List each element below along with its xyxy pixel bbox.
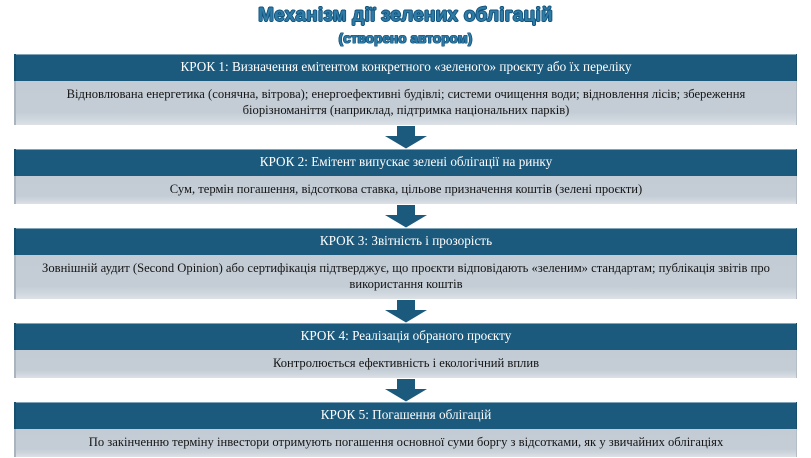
down-arrow-icon (384, 300, 428, 323)
page-subtitle: (створено автором) (0, 30, 811, 47)
flowchart-page: Механізм дії зелених облігацій (створено… (0, 0, 811, 458)
step-3-body: Зовнішній аудит (Second Opinion) або сер… (14, 255, 797, 299)
step-group-4: КРОК 4: Реалізація обраного проєкту Конт… (14, 323, 797, 378)
step-1-body: Відновлювана енергетика (сонячна, вітров… (14, 81, 797, 125)
connector-3-to-4 (14, 299, 797, 323)
step-group-1: КРОК 1: Визначення емітентом конкретного… (14, 54, 797, 125)
connector-1-to-2 (14, 125, 797, 149)
step-2-header: КРОК 2: Емітент випускає зелені облігаці… (14, 149, 797, 176)
connector-4-to-5 (14, 378, 797, 402)
down-arrow-icon (384, 205, 428, 228)
page-title: Механізм дії зелених облігацій (0, 5, 811, 27)
down-arrow-icon (384, 126, 428, 149)
step-3-header: КРОК 3: Звітність і прозорість (14, 228, 797, 255)
step-group-5: КРОК 5: Погашення облігацій По закінченн… (14, 402, 797, 457)
step-2-body: Сум, термін погашення, відсоткова ставка… (14, 176, 797, 204)
flow-container: КРОК 1: Визначення емітентом конкретного… (14, 54, 797, 457)
step-4-header: КРОК 4: Реалізація обраного проєкту (14, 323, 797, 350)
connector-2-to-3 (14, 204, 797, 228)
step-5-body: По закінченню терміну інвестори отримуют… (14, 429, 797, 457)
step-group-2: КРОК 2: Емітент випускає зелені облігаці… (14, 149, 797, 204)
step-1-header: КРОК 1: Визначення емітентом конкретного… (14, 54, 797, 81)
down-arrow-icon (384, 379, 428, 402)
step-5-header: КРОК 5: Погашення облігацій (14, 402, 797, 429)
step-4-body: Контролюється ефективність і екологічний… (14, 350, 797, 378)
title-block: Механізм дії зелених облігацій (створено… (0, 0, 811, 47)
step-group-3: КРОК 3: Звітність і прозорість Зовнішній… (14, 228, 797, 299)
